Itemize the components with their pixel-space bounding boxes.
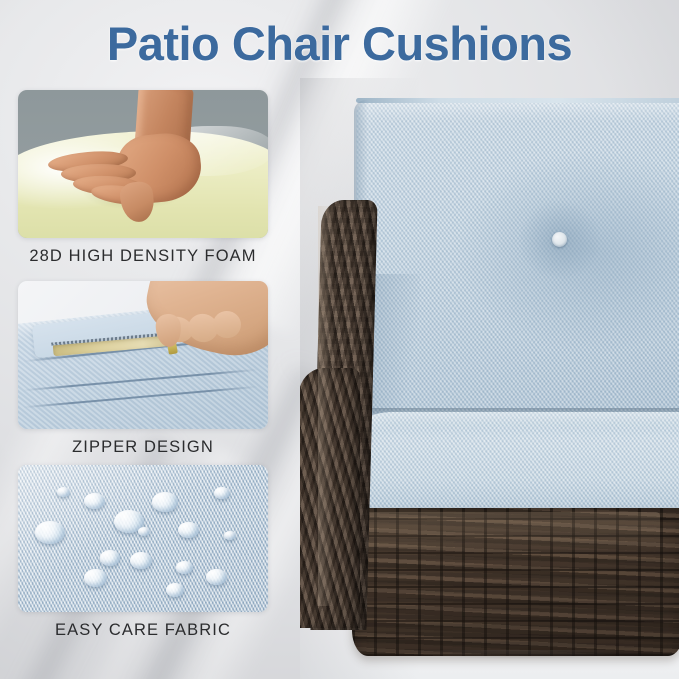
feature-image-zipper-design	[18, 281, 268, 429]
arm-wicker-highlight	[318, 206, 334, 606]
cushion-piping	[356, 98, 679, 103]
feature-card-high-density-foam: 28D HIGH DENSITY FOAM	[18, 90, 268, 266]
base-ground-shadow	[354, 650, 679, 670]
feature-caption: EASY CARE FABRIC	[18, 621, 268, 640]
feature-card-easy-care-fabric: EASY CARE FABRIC	[18, 465, 268, 640]
product-infographic: Patio Chair Cushions 28D HIGH DENSITY FO…	[0, 0, 679, 679]
hero-chair-image	[300, 78, 679, 679]
water-droplet	[84, 569, 107, 587]
feature-image-easy-care-fabric	[18, 465, 268, 612]
water-droplet	[100, 550, 120, 566]
feature-caption: 28D HIGH DENSITY FOAM	[18, 247, 268, 266]
page-title: Patio Chair Cushions	[0, 16, 679, 71]
base-wicker-highlight	[360, 512, 660, 558]
feature-card-zipper-design: ZIPPER DESIGN	[18, 281, 268, 457]
seat-cushion	[352, 412, 679, 512]
water-droplet	[130, 552, 152, 569]
water-droplet	[166, 583, 184, 597]
feature-image-high-density-foam	[18, 90, 268, 238]
feature-caption: ZIPPER DESIGN	[18, 438, 268, 457]
tufted-button	[552, 232, 567, 247]
